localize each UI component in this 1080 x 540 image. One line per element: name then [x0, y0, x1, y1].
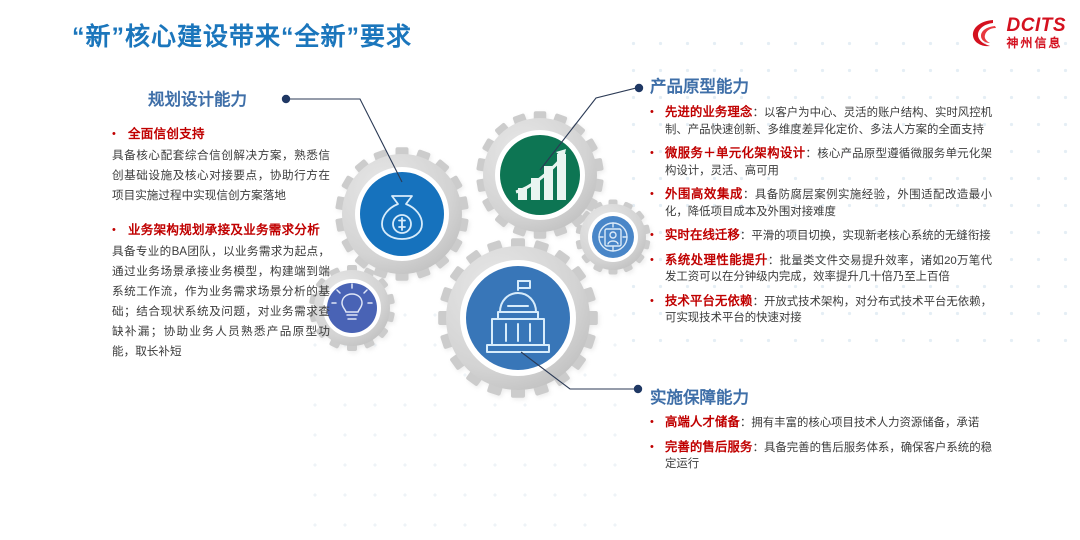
capability-key: 微服务＋单元化架构设计: [665, 146, 806, 160]
gear-money-bag: [335, 147, 469, 280]
capability-item: •高端人才储备：拥有丰富的核心项目技术人力资源储备，承诺: [650, 414, 992, 432]
capability-text: 技术平台无依赖：开放式技术架构，对分布式技术平台无依赖，可实现技术平台的快速对接: [665, 293, 992, 327]
product-capability-list: •先进的业务理念：以客户为中心、灵活的账户结构、实时风控机制、产品快速创新、多维…: [650, 104, 992, 334]
capability-body: 平滑的项目切换，实现新老核心系统的无缝衔接: [751, 230, 990, 242]
capability-key: 实时在线迁移: [665, 228, 740, 242]
bar-chart-up-icon: [516, 149, 566, 200]
capability-text: 高端人才储备：拥有丰富的核心项目技术人力资源储备，承诺: [665, 414, 979, 432]
section-heading-delivery: 实施保障能力: [650, 384, 749, 408]
connector-delivery-line: [521, 352, 634, 389]
capability-key: 完善的售后服务: [665, 440, 753, 454]
user-badge-icon: [599, 223, 627, 251]
brand-logo: DCITS 神州信息: [971, 16, 1067, 49]
capability-item: •技术平台无依赖：开放式技术架构，对分布式技术平台无依赖，可实现技术平台的快速对…: [650, 293, 992, 327]
capability-separator: ：: [743, 189, 755, 201]
money-bag-icon: [382, 196, 422, 239]
bullet-dot-icon: •: [112, 126, 128, 143]
capability-item: •实时在线迁移：平滑的项目切换，实现新老核心系统的无缝衔接: [650, 227, 992, 245]
capability-key: 高端人才储备: [665, 415, 740, 429]
left-bullet-title-row: • 全面信创支持: [112, 126, 330, 143]
bank-building-icon: [487, 281, 549, 352]
capability-item: •先进的业务理念：以客户为中心、灵活的账户结构、实时风控机制、产品快速创新、多维…: [650, 104, 992, 138]
capability-item: •微服务＋单元化架构设计：核心产品原型遵循微服务单元化架构设计，灵活、高可用: [650, 145, 992, 179]
capability-separator: ：: [740, 417, 751, 429]
capability-separator: ：: [740, 230, 751, 242]
bullet-dot-icon: •: [650, 186, 665, 220]
bullet-dot-icon: •: [650, 414, 665, 432]
left-bullet-title: 业务架构规划承接及业务需求分析: [128, 222, 320, 239]
bullet-dot-icon: •: [112, 222, 128, 239]
bullet-dot-icon: •: [650, 227, 665, 245]
capability-key: 外围高效集成: [665, 187, 743, 201]
left-bullet-title: 全面信创支持: [128, 126, 205, 143]
gear-institution: [438, 238, 598, 398]
capability-item: •系统处理性能提升：批量类文件交易提升效率，诸如20万笔代发工资可以在分钟级内完…: [650, 252, 992, 286]
delivery-capability-list: •高端人才储备：拥有丰富的核心项目技术人力资源储备，承诺•完善的售后服务：具备完…: [650, 414, 992, 480]
capability-text: 完善的售后服务：具备完善的售后服务体系，确保客户系统的稳定运行: [665, 439, 992, 473]
capability-text: 先进的业务理念：以客户为中心、灵活的账户结构、实时风控机制、产品快速创新、多维度…: [665, 104, 992, 138]
bullet-dot-icon: •: [650, 145, 665, 179]
capability-text: 外围高效集成：具备防腐层案例实施经验，外围适配改造最小化，降低项目成本及外围对接…: [665, 186, 992, 220]
gear-growth: [476, 111, 604, 238]
bullet-dot-icon: •: [650, 104, 665, 138]
logo-en-text: DCITS: [1007, 16, 1067, 35]
capability-key: 技术平台无依赖: [665, 294, 753, 308]
section-heading-product: 产品原型能力: [650, 73, 749, 97]
capability-separator: ：: [753, 296, 764, 308]
bullet-dot-icon: •: [650, 439, 665, 473]
capability-item: •完善的售后服务：具备完善的售后服务体系，确保客户系统的稳定运行: [650, 439, 992, 473]
capability-key: 系统处理性能提升: [665, 253, 768, 267]
background-dot-pattern-center: [300, 300, 640, 540]
connector-delivery-dot: [634, 385, 642, 393]
dcits-swoosh-icon: [971, 17, 1001, 49]
bullet-dot-icon: •: [650, 293, 665, 327]
capability-body: 拥有丰富的核心项目技术人力资源储备，承诺: [751, 417, 979, 429]
section-heading-planning: 规划设计能力: [148, 86, 247, 110]
capability-key: 先进的业务理念: [665, 105, 753, 119]
capability-separator: ：: [753, 442, 764, 454]
page-title: “新”核心建设带来“全新”要求: [72, 17, 412, 53]
capability-text: 微服务＋单元化架构设计：核心产品原型遵循微服务单元化架构设计，灵活、高可用: [665, 145, 992, 179]
left-bullet-body: 具备核心配套综合信创解决方案，熟悉信创基础设施及核心对接要点，协助行方在项目实施…: [112, 146, 330, 206]
left-content-column: • 全面信创支持 具备核心配套综合信创解决方案，熟悉信创基础设施及核心对接要点，…: [112, 126, 330, 378]
capability-item: •外围高效集成：具备防腐层案例实施经验，外围适配改造最小化，降低项目成本及外围对…: [650, 186, 992, 220]
left-bullet-title-row: • 业务架构规划承接及业务需求分析: [112, 222, 330, 239]
connector-planning-dot: [282, 95, 290, 103]
capability-separator: ：: [806, 148, 818, 160]
connector-product-line: [540, 88, 636, 170]
slide-canvas: “新”核心建设带来“全新”要求 DCITS 神州信息: [0, 0, 1080, 540]
left-bullet-body: 具备专业的BA团队，以业务需求为起点，通过业务场景承接业务模型，构建端到端系统工…: [112, 242, 330, 362]
connector-product-dot: [635, 84, 643, 92]
gear-people: [575, 200, 650, 275]
capability-separator: ：: [753, 107, 764, 119]
bullet-dot-icon: •: [650, 252, 665, 286]
capability-separator: ：: [768, 255, 780, 267]
logo-cn-text: 神州信息: [1007, 37, 1067, 49]
capability-text: 系统处理性能提升：批量类文件交易提升效率，诸如20万笔代发工资可以在分钟级内完成…: [665, 252, 992, 286]
capability-text: 实时在线迁移：平滑的项目切换，实现新老核心系统的无缝衔接: [665, 227, 991, 245]
lightbulb-icon: [332, 284, 372, 319]
